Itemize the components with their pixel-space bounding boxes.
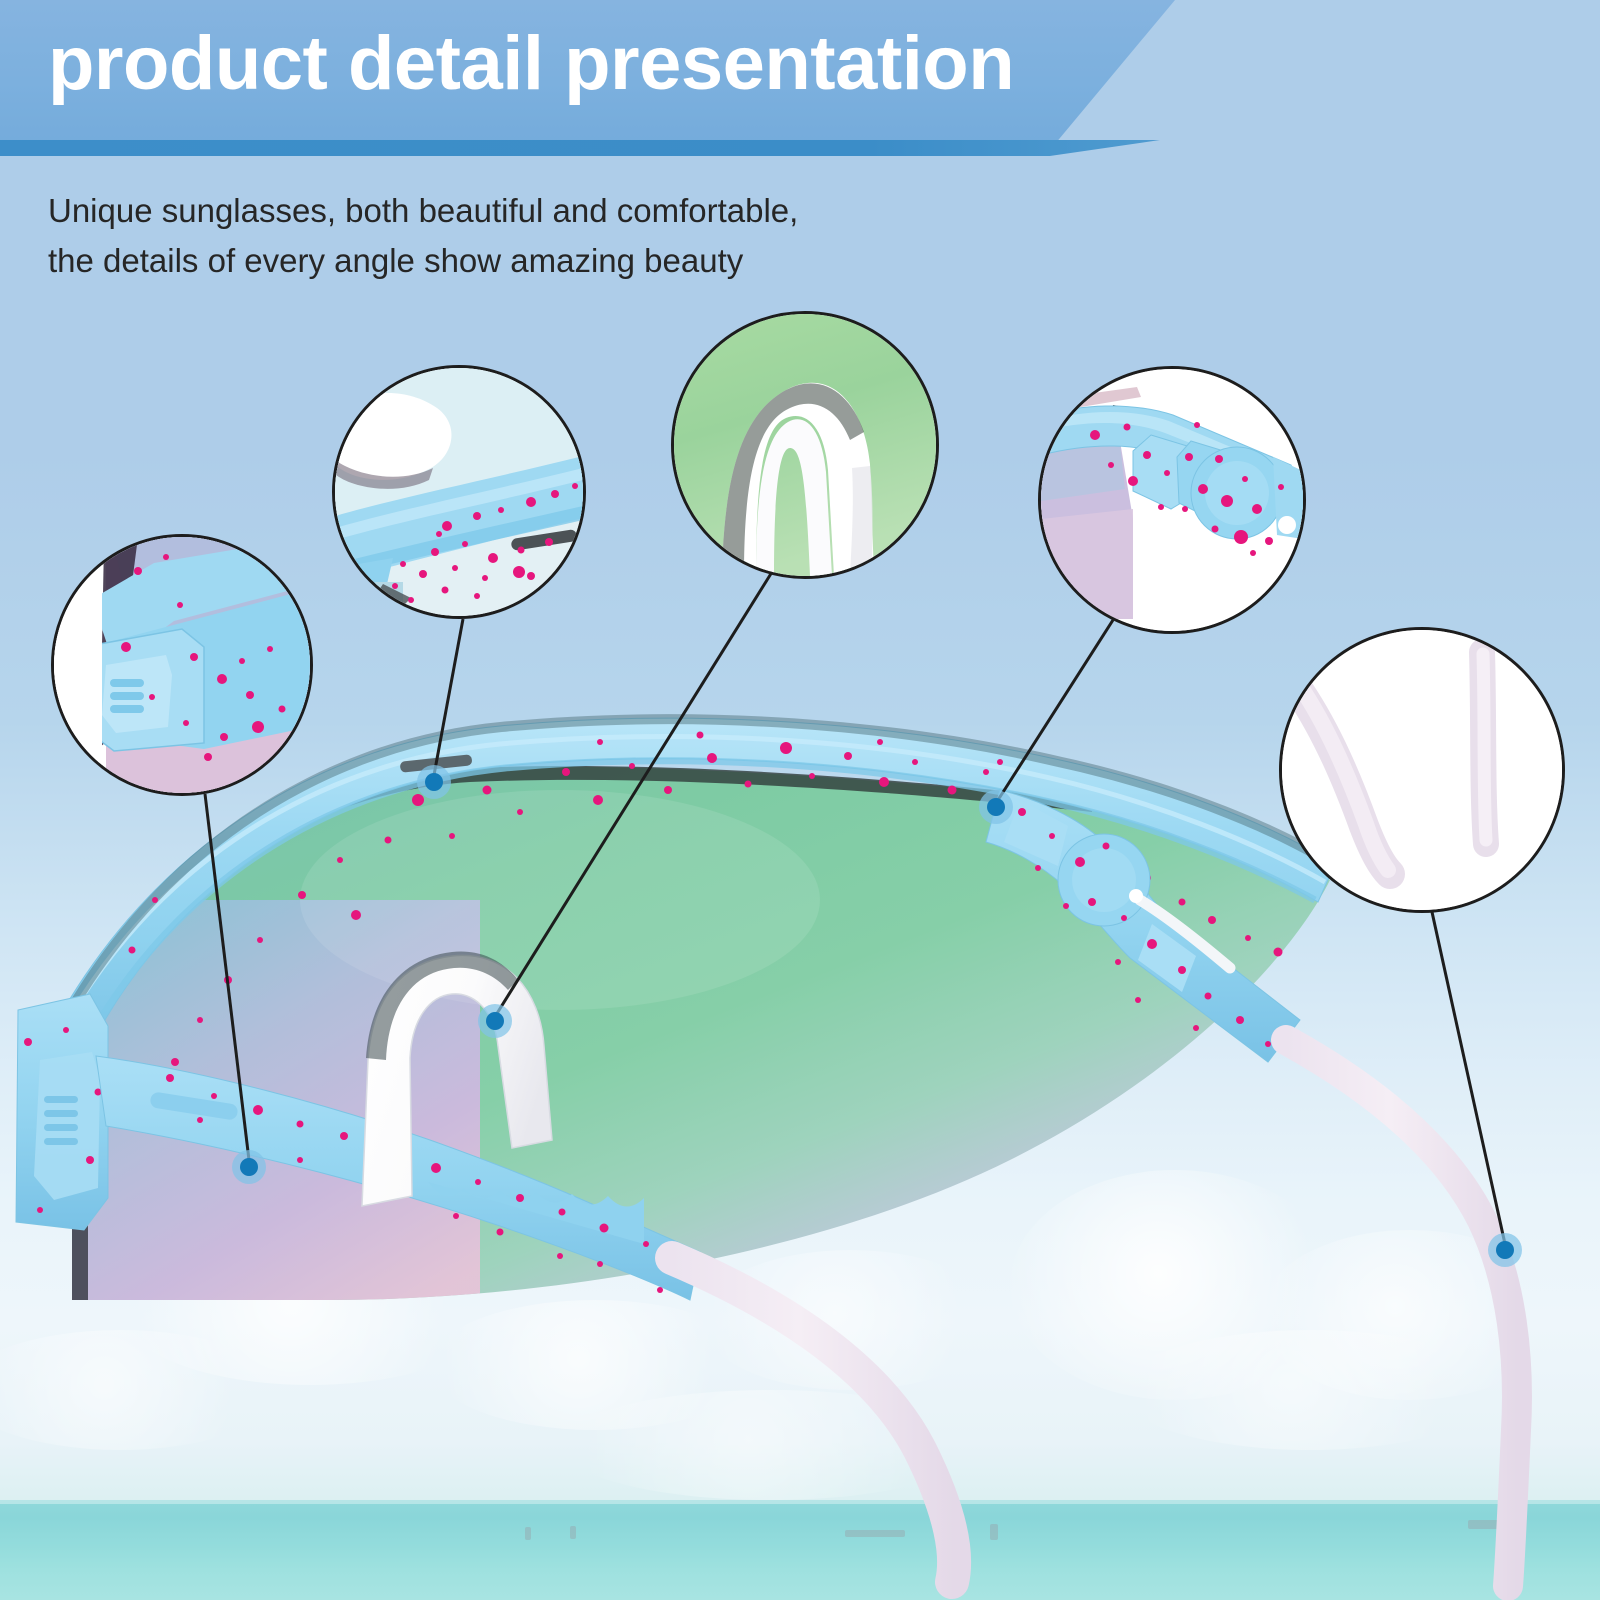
left-hinge: [16, 994, 108, 1230]
callout-hinge-left[interactable]: [51, 534, 313, 796]
marker-dot: [425, 773, 443, 791]
callout-brow-vent[interactable]: [332, 365, 586, 619]
callout-marker-4[interactable]: [979, 790, 1013, 824]
header-banner-underline: [0, 140, 1160, 156]
callout-marker-5[interactable]: [1488, 1233, 1522, 1267]
callout-2-art: [335, 368, 583, 616]
right-temple-tip: [1286, 1040, 1517, 1586]
callout-4-art: [1041, 369, 1303, 631]
marker-dot: [987, 798, 1005, 816]
callout-nose-bridge[interactable]: [671, 311, 939, 579]
marker-dot: [486, 1012, 504, 1030]
callout-hinge-right[interactable]: [1038, 366, 1306, 634]
callout-marker-3[interactable]: [478, 1004, 512, 1038]
subtitle-block: Unique sunglasses, both beautiful and co…: [48, 186, 798, 286]
marker-dot: [240, 1158, 258, 1176]
callout-3-art: [674, 314, 936, 576]
callout-1-art: [54, 537, 310, 793]
callout-temple-tips[interactable]: [1279, 627, 1565, 913]
page-title: product detail presentation: [48, 24, 1014, 104]
left-temple-tip: [672, 1258, 954, 1582]
marker-dot: [1496, 1241, 1514, 1259]
subtitle-line-1: Unique sunglasses, both beautiful and co…: [48, 186, 798, 236]
subtitle-line-2: the details of every angle show amazing …: [48, 236, 798, 286]
product-detail-presentation-page: product detail presentation Unique sungl…: [0, 0, 1600, 1600]
callout-marker-1[interactable]: [232, 1150, 266, 1184]
callout-5-art: [1282, 630, 1562, 910]
callout-marker-2[interactable]: [417, 765, 451, 799]
